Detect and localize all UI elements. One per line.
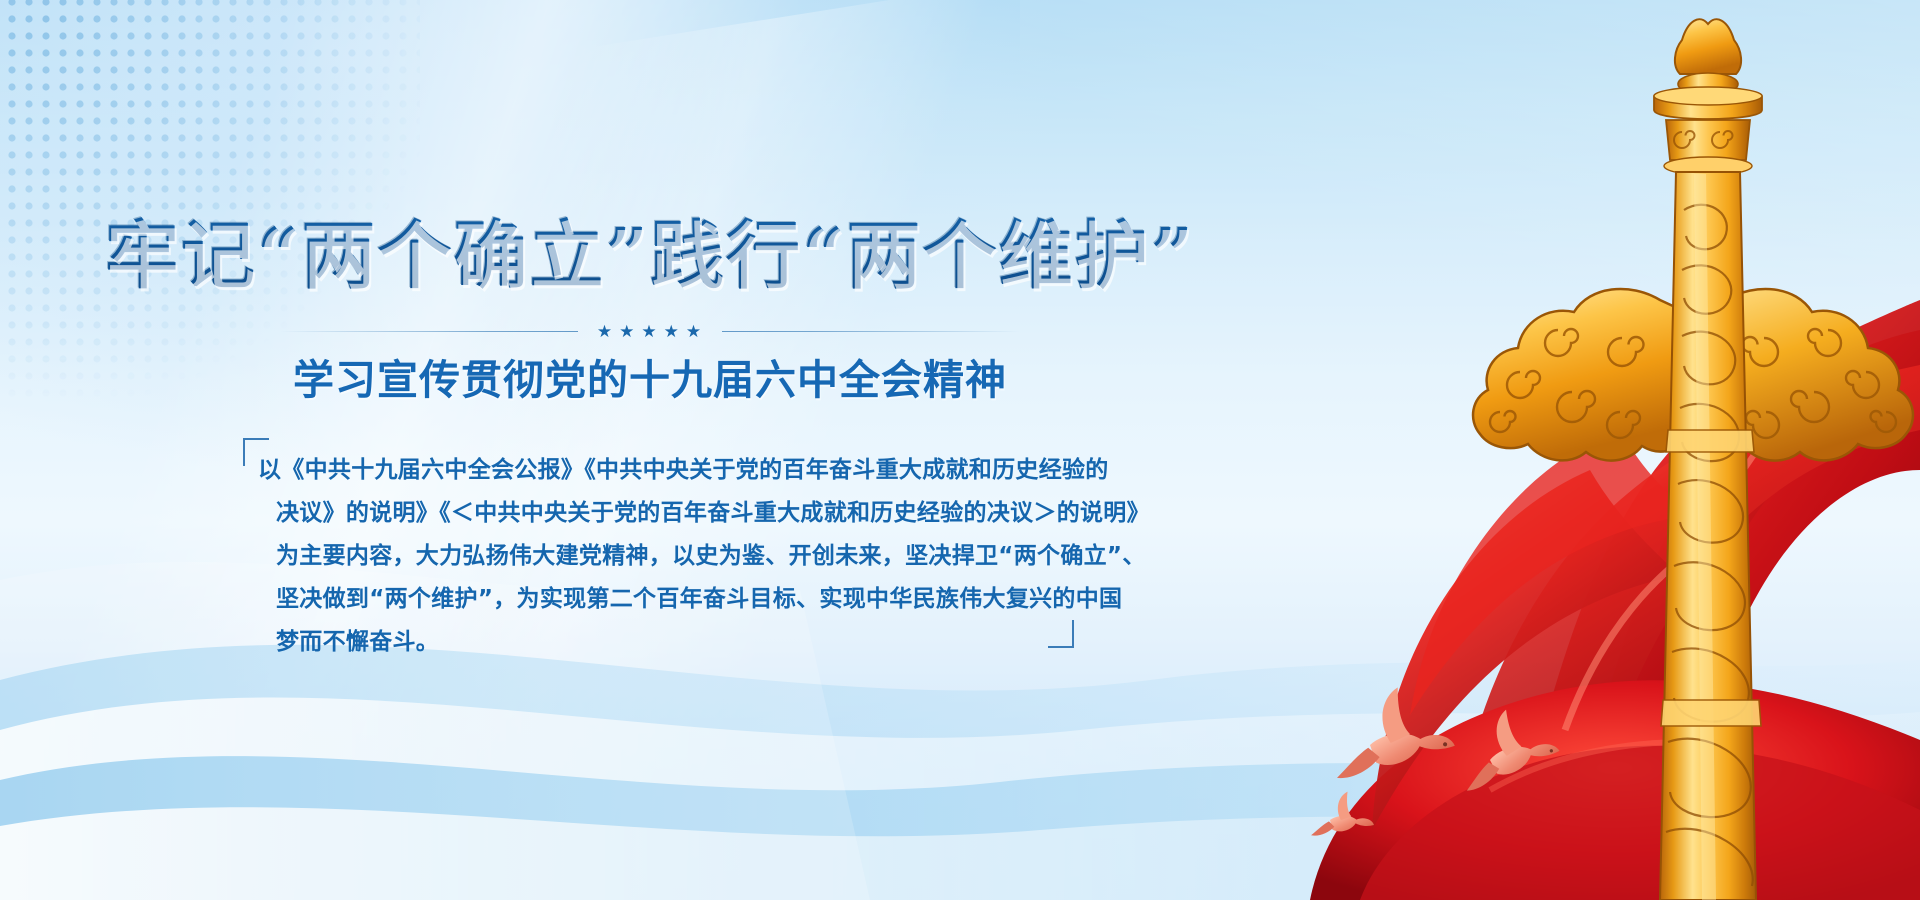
body-line-5: 梦而不懈奋斗。 — [258, 622, 1070, 662]
body-line-4: 坚决做到“两个维护”，为实现第二个百年奋斗目标、实现中华民族伟大复兴的中国 — [258, 579, 1070, 619]
body-line-3: 为主要内容，大力弘扬伟大建党精神，以史为鉴、开创未来，坚决捍卫“两个确立”、 — [258, 536, 1070, 576]
text-content-block: 牢记“两个确立”践行“两个维护” ★★★★★ 学习宣传贯彻党的十九届六中全会精神… — [0, 0, 1300, 900]
page-subtitle: 学习宣传贯彻党的十九届六中全会精神 — [0, 346, 1300, 406]
body-paragraph: 以《中共十九届六中全会公报》《中共中央关于党的百年奋斗重大成就和历史经验的 决议… — [258, 450, 1070, 665]
five-stars-icon: ★★★★★ — [592, 323, 708, 340]
huabiao-ornamental-column — [1654, 19, 1762, 900]
page-title: 牢记“两个确立”践行“两个维护” — [0, 196, 1300, 303]
propaganda-banner: 牢记“两个确立”践行“两个维护” ★★★★★ 学习宣传贯彻党的十九届六中全会精神… — [0, 0, 1920, 900]
star-divider: ★★★★★ — [280, 320, 1020, 342]
body-line-1: 以《中共十九届六中全会公报》《中共中央关于党的百年奋斗重大成就和历史经验的 — [258, 450, 1070, 490]
huabiao-and-ribbon-artwork — [1160, 0, 1920, 900]
divider-rule-left — [280, 331, 578, 332]
body-line-2: 决议》的说明》《＜中共中央关于党的百年奋斗重大成就和历史经验的决议＞的说明》 — [258, 493, 1070, 533]
divider-rule-right — [722, 331, 1020, 332]
